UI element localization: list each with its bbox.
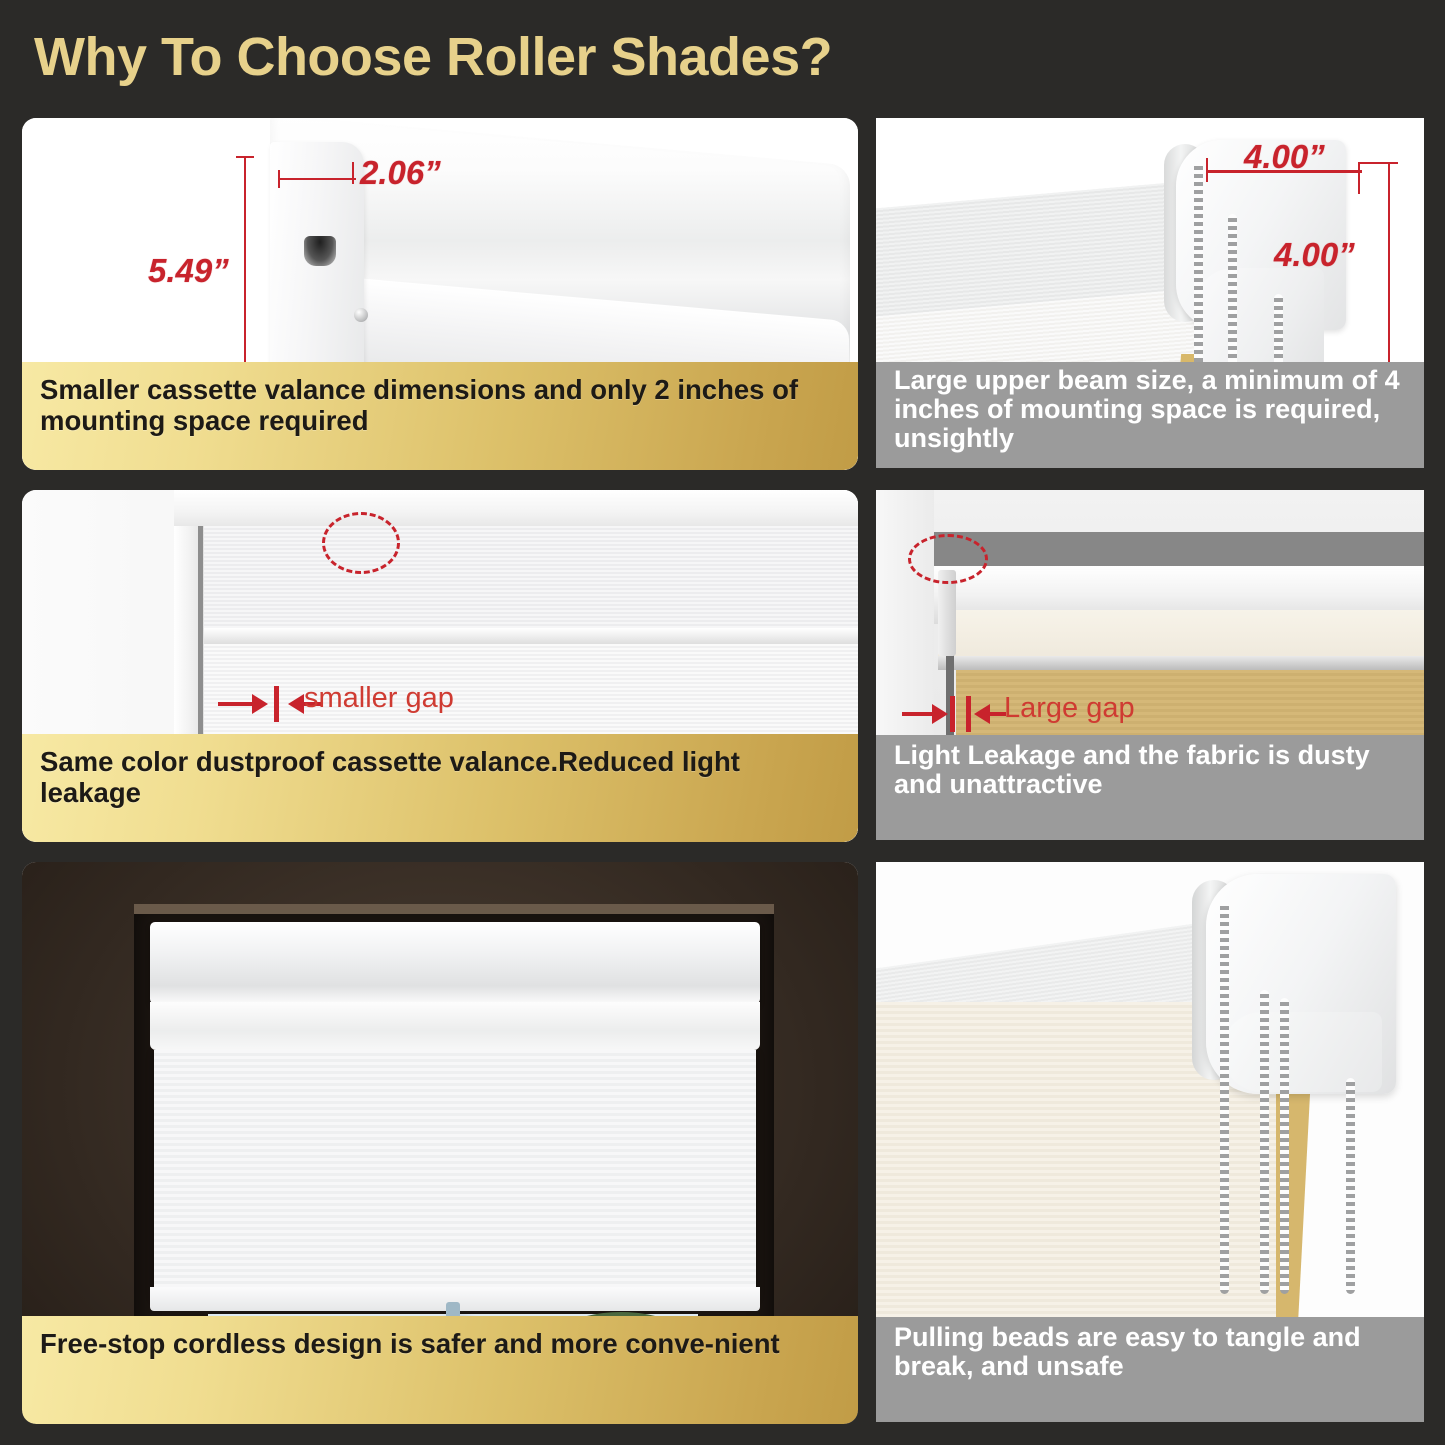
head-rail-bracket-lower [1222, 1012, 1382, 1092]
dimension-line-vertical [244, 156, 246, 388]
bead-chain-icon [1260, 990, 1269, 1294]
gap-label: smaller gap [304, 682, 454, 715]
panel-1-caption: Smaller cassette valance dimensions and … [22, 362, 858, 470]
panel-3-smaller-gap: smaller gap Same color dustproof cassett… [22, 490, 858, 842]
gap-arrow-left-head [252, 694, 268, 714]
bead-chain-icon [1220, 902, 1229, 1294]
shade-rail [938, 656, 1424, 670]
shade-upper-fabric [204, 526, 858, 630]
dimension-tick-top [1358, 162, 1398, 164]
panel-3-caption: Same color dustproof cassette valance.Re… [22, 734, 858, 842]
highlight-ellipse-icon [908, 534, 988, 584]
dimension-label-width: 2.06” [360, 154, 441, 192]
bead-chain-icon [1346, 1078, 1355, 1294]
panel-5-caption: Free-stop cordless design is safer and m… [22, 1316, 858, 1424]
dimension-tick-left [1206, 158, 1208, 182]
dimension-tick-right [1358, 162, 1360, 194]
panel-1-smaller-cassette: 2.06” 5.49” Smaller cassette valance dim… [22, 118, 858, 470]
page-title: Why To Choose Roller Shades? [34, 22, 1234, 92]
panel-2-large-beam: 4.00” 4.00” Large upper beam size, a min… [876, 118, 1424, 468]
gap-arrow-right-head [288, 694, 304, 714]
gap-arrow-right-head [974, 704, 990, 724]
cassette-valance [150, 922, 760, 1004]
dimension-tick-top [236, 156, 254, 158]
gap-label: Large gap [1004, 692, 1135, 725]
panel-6-pulling-beads: Pulling beads are easy to tangle and bre… [876, 862, 1424, 1422]
shade-mid-rail [204, 628, 858, 644]
infographic-root: Why To Choose Roller Shades? 2.06” 5.49”… [0, 0, 1445, 1445]
screw-icon [354, 308, 368, 322]
bead-chain-icon [1280, 998, 1289, 1294]
roller-shade-fabric [154, 1050, 756, 1295]
highlight-ellipse-icon [322, 512, 400, 574]
dimension-label-height: 5.49” [148, 252, 229, 290]
dimension-label-width: 4.00” [1244, 138, 1325, 176]
gap-marker-line [274, 686, 279, 722]
gap-arrow-left-head [932, 704, 948, 724]
panel-4-large-gap: Large gap Light Leakage and the fabric i… [876, 490, 1424, 840]
dimension-line-horizontal [278, 178, 356, 180]
panel-2-caption: Large upper beam size, a minimum of 4 in… [876, 362, 1424, 468]
panel-5-cordless-design: Free-stop cordless design is safer and m… [22, 862, 858, 1424]
dimension-label-height: 4.00” [1274, 236, 1355, 274]
dimension-tick-right [352, 162, 354, 184]
gap-marker-line-b [966, 696, 971, 732]
window-frame-top [174, 490, 858, 526]
gap-arrow-left-shaft [902, 712, 934, 716]
gap-arrow-left-shaft [218, 702, 254, 706]
cassette-valance-lower [150, 1002, 760, 1050]
endcap-slot-icon [304, 236, 336, 266]
window-header-trim [134, 904, 774, 914]
shade-cream-fabric [938, 610, 1424, 660]
panel-4-caption: Light Leakage and the fabric is dusty an… [876, 735, 1424, 840]
panel-6-caption: Pulling beads are easy to tangle and bre… [876, 1317, 1424, 1422]
gap-marker-line-a [950, 696, 955, 732]
